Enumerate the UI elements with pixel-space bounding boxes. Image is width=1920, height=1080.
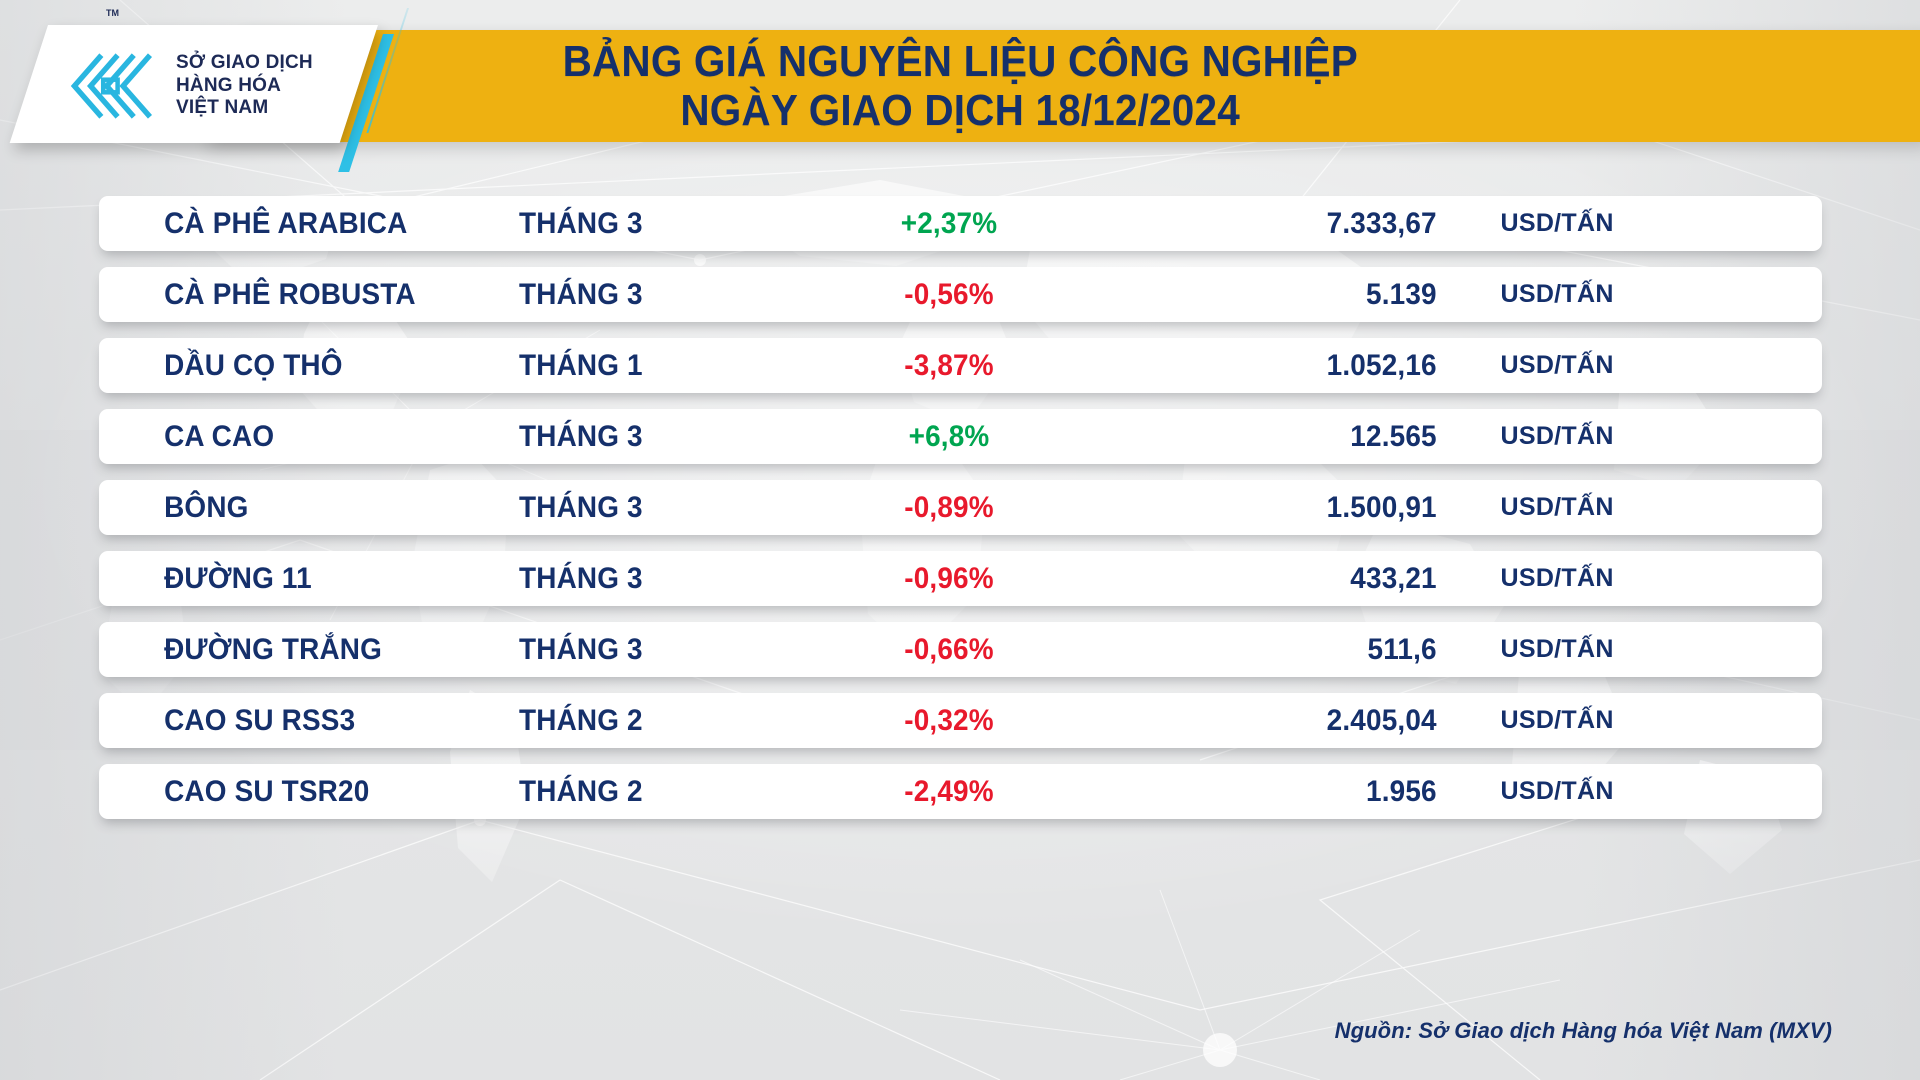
price-value: 1.956 <box>1111 775 1437 809</box>
price-value: 2.405,04 <box>1111 704 1437 738</box>
price-unit: USD/TẤN <box>1449 635 1822 664</box>
price-value: 433,21 <box>1111 562 1437 596</box>
commodity-name: BÔNG <box>99 491 490 525</box>
contract-month: THÁNG 1 <box>519 349 779 383</box>
commodity-name: CÀ PHÊ ROBUSTA <box>99 278 490 312</box>
price-unit: USD/TẤN <box>1449 706 1822 735</box>
contract-month: THÁNG 2 <box>519 775 779 809</box>
mxv-logo-mark-icon <box>62 50 166 122</box>
commodity-name: CA CAO <box>99 420 490 454</box>
price-value: 1.500,91 <box>1111 491 1437 525</box>
table-row[interactable]: BÔNG THÁNG 3 -0,89% 1.500,91 USD/TẤN <box>99 480 1822 535</box>
table-row[interactable]: CÀ PHÊ ARABICA THÁNG 3 +2,37% 7.333,67 U… <box>99 196 1822 251</box>
brand-logo-text: SỞ GIAO DỊCH HÀNG HÓA VIỆT NAM <box>176 52 313 119</box>
table-row[interactable]: DẦU CỌ THÔ THÁNG 1 -3,87% 1.052,16 USD/T… <box>99 338 1822 393</box>
change-percent: -0,32% <box>809 704 1088 738</box>
price-unit: USD/TẤN <box>1449 493 1822 522</box>
commodity-name: DẦU CỌ THÔ <box>99 349 490 383</box>
brand-line-2: HÀNG HÓA <box>176 75 313 97</box>
footer: Nguồn: Sở Giao dịch Hàng hóa Việt Nam (M… <box>0 1018 1920 1044</box>
price-value: 12.565 <box>1111 420 1437 454</box>
price-unit: USD/TẤN <box>1449 351 1822 380</box>
change-percent: -2,49% <box>809 775 1088 809</box>
contract-month: THÁNG 3 <box>519 278 779 312</box>
price-unit: USD/TẤN <box>1449 777 1822 806</box>
table-row[interactable]: CAO SU TSR20 THÁNG 2 -2,49% 1.956 USD/TẤ… <box>99 764 1822 819</box>
change-percent: +6,8% <box>809 420 1088 454</box>
page-title-line-1: BẢNG GIÁ NGUYÊN LIỆU CÔNG NGHIỆP <box>562 37 1357 86</box>
price-unit: USD/TẤN <box>1449 564 1822 593</box>
price-value: 1.052,16 <box>1111 349 1437 383</box>
change-percent: +2,37% <box>809 207 1088 241</box>
contract-month: THÁNG 3 <box>519 633 779 667</box>
price-value: 7.333,67 <box>1111 207 1437 241</box>
price-unit: USD/TẤN <box>1449 280 1822 309</box>
table-row[interactable]: CAO SU RSS3 THÁNG 2 -0,32% 2.405,04 USD/… <box>99 693 1822 748</box>
price-unit: USD/TẤN <box>1449 209 1822 238</box>
source-note: Nguồn: Sở Giao dịch Hàng hóa Việt Nam (M… <box>1335 1018 1832 1043</box>
contract-month: THÁNG 3 <box>519 562 779 596</box>
trademark-symbol: TM <box>106 8 119 18</box>
contract-month: THÁNG 3 <box>519 207 779 241</box>
change-percent: -0,66% <box>809 633 1088 667</box>
table-row[interactable]: ĐƯỜNG TRẮNG THÁNG 3 -0,66% 511,6 USD/TẤN <box>99 622 1822 677</box>
price-value: 5.139 <box>1111 278 1437 312</box>
change-percent: -0,96% <box>809 562 1088 596</box>
page-title: BẢNG GIÁ NGUYÊN LIỆU CÔNG NGHIỆP NGÀY GI… <box>370 28 1550 144</box>
commodity-name: CAO SU TSR20 <box>99 775 490 809</box>
contract-month: THÁNG 3 <box>519 491 779 525</box>
table-row[interactable]: ĐƯỜNG 11 THÁNG 3 -0,96% 433,21 USD/TẤN <box>99 551 1822 606</box>
change-percent: -3,87% <box>809 349 1088 383</box>
change-percent: -0,56% <box>809 278 1088 312</box>
price-unit: USD/TẤN <box>1449 422 1822 451</box>
price-value: 511,6 <box>1111 633 1437 667</box>
change-percent: -0,89% <box>809 491 1088 525</box>
page-title-line-2: NGÀY GIAO DỊCH 18/12/2024 <box>680 86 1240 135</box>
commodity-name: ĐƯỜNG TRẮNG <box>99 633 490 667</box>
table-row[interactable]: CÀ PHÊ ROBUSTA THÁNG 3 -0,56% 5.139 USD/… <box>99 267 1822 322</box>
page-header: SỞ GIAO DỊCH HÀNG HÓA VIỆT NAM TM BẢNG G… <box>0 0 1920 172</box>
brand-line-3: VIỆT NAM <box>176 97 313 119</box>
contract-month: THÁNG 3 <box>519 420 779 454</box>
contract-month: THÁNG 2 <box>519 704 779 738</box>
commodity-name: CÀ PHÊ ARABICA <box>99 207 490 241</box>
commodity-name: ĐƯỜNG 11 <box>99 562 490 596</box>
brand-line-1: SỞ GIAO DỊCH <box>176 52 313 74</box>
commodity-name: CAO SU RSS3 <box>99 704 490 738</box>
commodity-price-table: CÀ PHÊ ARABICA THÁNG 3 +2,37% 7.333,67 U… <box>0 196 1920 819</box>
table-row[interactable]: CA CAO THÁNG 3 +6,8% 12.565 USD/TẤN <box>99 409 1822 464</box>
brand-logo: SỞ GIAO DỊCH HÀNG HÓA VIỆT NAM <box>62 34 362 138</box>
